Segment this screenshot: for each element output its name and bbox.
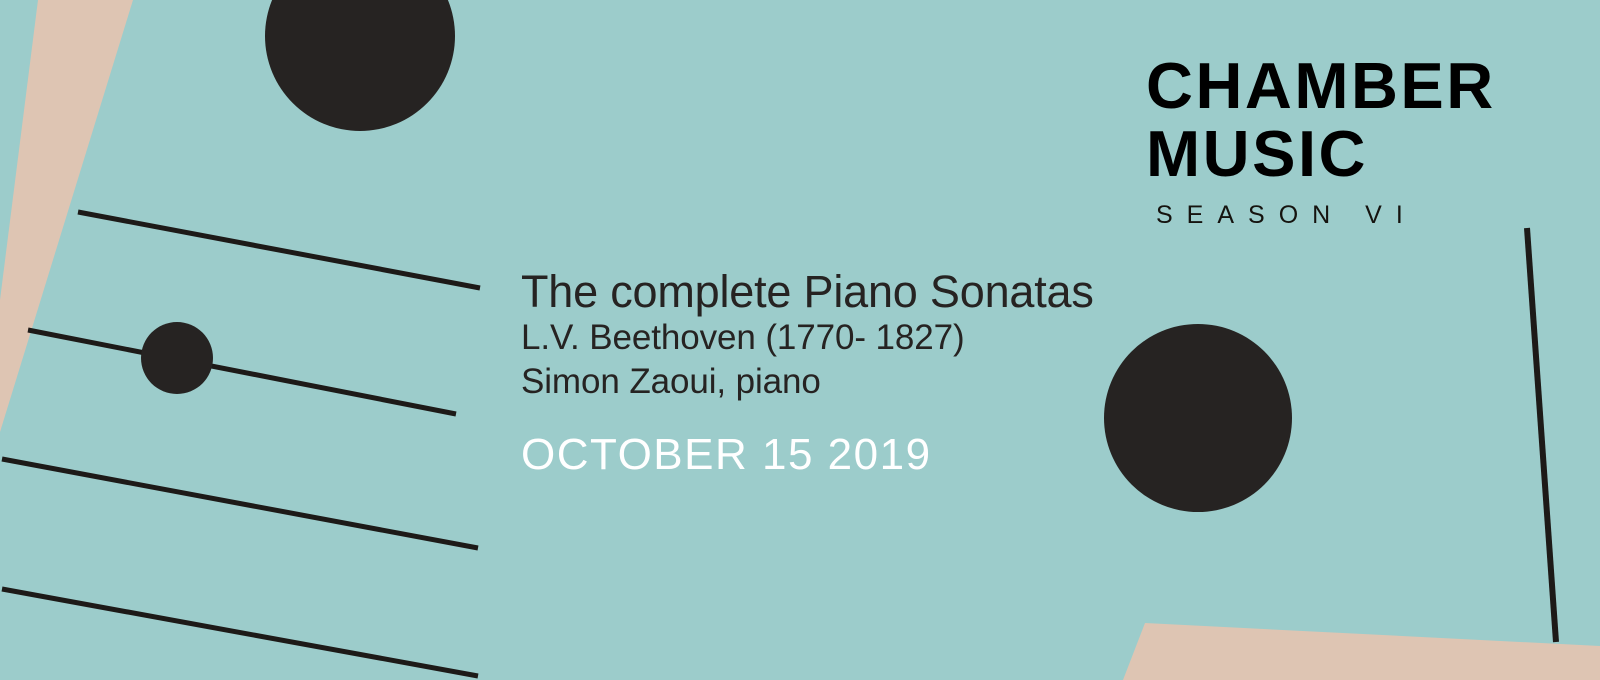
programme-headline: The complete Piano Sonatas: [521, 268, 1181, 316]
logo-season-label: SEASON VI: [1156, 201, 1566, 230]
programme-performer: Simon Zaoui, piano: [521, 360, 1181, 405]
logo-lockup: CHAMBER MUSIC SEASON VI: [1146, 54, 1566, 230]
programme-text-block: The complete Piano Sonatas L.V. Beethove…: [521, 268, 1181, 477]
programme-date: OCTOBER 15 2019: [521, 433, 1181, 477]
note-head-circle: [141, 322, 213, 394]
programme-composer: L.V. Beethoven (1770- 1827): [521, 316, 1181, 361]
chamber-music-poster: CHAMBER MUSIC SEASON VI The complete Pia…: [0, 0, 1600, 680]
logo-line-music: MUSIC: [1146, 122, 1566, 186]
logo-line-chamber: CHAMBER: [1146, 54, 1566, 118]
